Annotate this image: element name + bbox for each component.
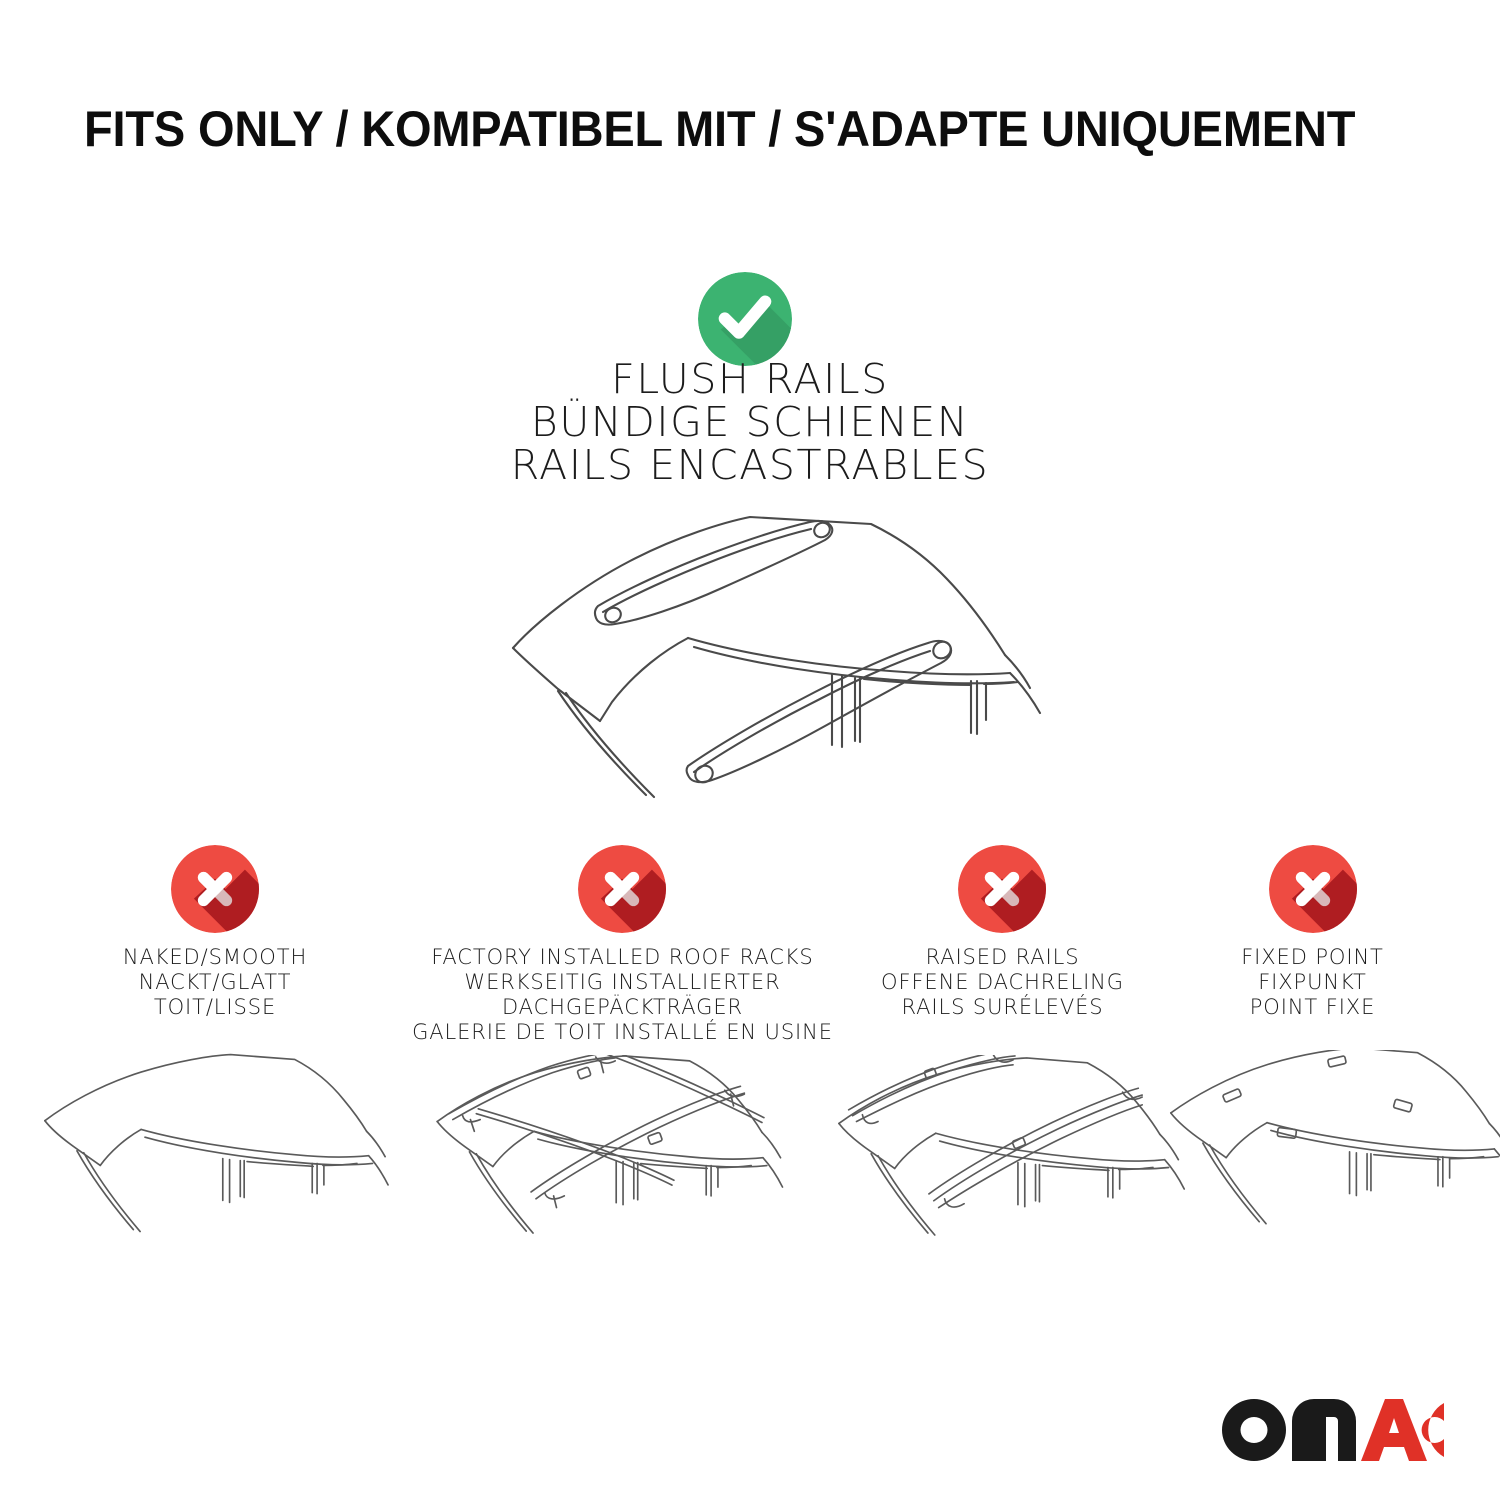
compatible-label-de: BÜNDIGE SCHIENEN [0, 401, 1500, 444]
omac-letter-m [1292, 1399, 1356, 1461]
label-line-en: RAISED RAILS [835, 945, 1170, 970]
car-roof-fixed-point-illustration [1165, 1050, 1500, 1275]
label-line-de: NACKT/GLATT [30, 970, 400, 995]
label-line-de-2: DACHGEPÄCKTRÄGER [395, 995, 850, 1020]
green-check-circle-icon [698, 272, 792, 366]
omac-letter-c [1422, 1403, 1444, 1457]
omac-letter-o [1222, 1399, 1286, 1461]
incompatible-label-raised-rails: RAISED RAILS OFFENE DACHRELING RAILS SUR… [835, 945, 1170, 1020]
incompatible-section: NAKED/SMOOTH NACKT/GLATT TOIT/LISSE [0, 845, 1500, 1315]
label-line-fr: POINT FIXE [1165, 995, 1460, 1020]
red-cross-circle-icon [578, 845, 666, 933]
label-line-fr: RAILS SURÉLEVÉS [835, 995, 1170, 1020]
omac-letter-a [1361, 1399, 1427, 1461]
label-line-de-1: WERKSEITIG INSTALLIERTER [395, 970, 850, 995]
car-roof-raised-rails-illustration [815, 1055, 1215, 1280]
red-cross-circle-icon [1269, 845, 1357, 933]
car-roof-factory-roof-racks-illustration [425, 1055, 825, 1280]
label-line-en: FIXED POINT [1165, 945, 1460, 970]
incompatible-label-factory-roof-racks: FACTORY INSTALLED ROOF RACKS WERKSEITIG … [395, 945, 850, 1045]
compatible-label: FLUSH RAILS BÜNDIGE SCHIENEN RAILS ENCAS… [0, 358, 1500, 487]
label-line-en: NAKED/SMOOTH [30, 945, 400, 970]
incompatible-label-fixed-point: FIXED POINT FIXPUNKT POINT FIXE [1165, 945, 1460, 1020]
omac-logo [1222, 1399, 1444, 1461]
incompatible-label-naked-smooth: NAKED/SMOOTH NACKT/GLATT TOIT/LISSE [30, 945, 400, 1020]
label-line-en: FACTORY INSTALLED ROOF RACKS [395, 945, 850, 970]
label-line-fr: GALERIE DE TOIT INSTALLÉ EN USINE [395, 1020, 850, 1045]
compatible-label-en: FLUSH RAILS [0, 358, 1500, 401]
car-roof-flush-rails-illustration [450, 495, 1090, 815]
car-roof-naked-smooth-illustration [40, 1050, 390, 1275]
label-line-de: OFFENE DACHRELING [835, 970, 1170, 995]
label-line-fr: TOIT/LISSE [30, 995, 400, 1020]
compatible-label-fr: RAILS ENCASTRABLES [0, 444, 1500, 487]
page-title: FITS ONLY / KOMPATIBEL MIT / S'ADAPTE UN… [84, 103, 1355, 156]
red-cross-circle-icon [171, 845, 259, 933]
label-line-de: FIXPUNKT [1165, 970, 1460, 995]
red-cross-circle-icon [958, 845, 1046, 933]
